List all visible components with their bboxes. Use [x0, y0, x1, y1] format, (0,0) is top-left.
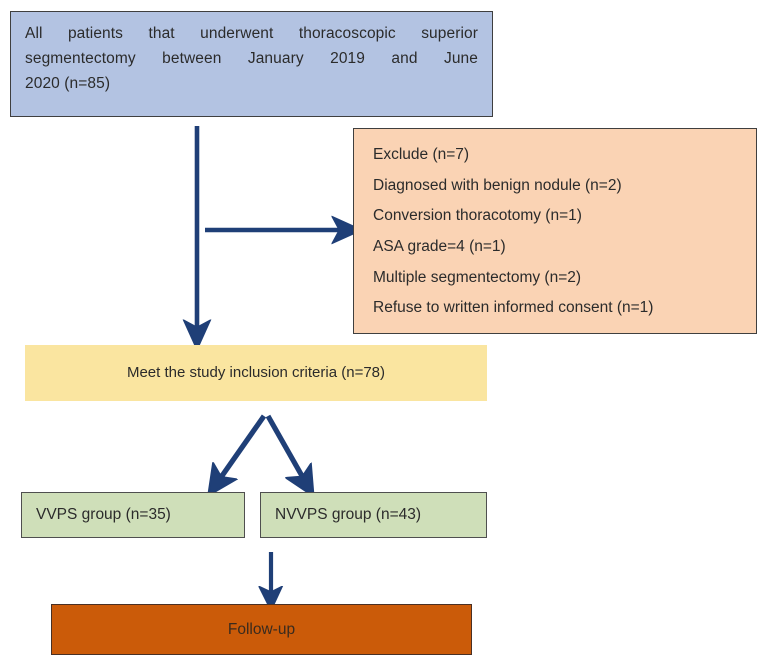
cohort-box: All patients that underwent thoracoscopi…: [10, 11, 493, 117]
exclusion-item-asa-grade: ASA grade=4 (n=1): [373, 232, 756, 263]
exclusion-item-refused-consent: Refuse to written informed consent (n=1): [373, 293, 756, 324]
exclusion-item-multiple-segmentectomy: Multiple segmentectomy (n=2): [373, 263, 756, 294]
group-box-nvvps-label: NVVPS group (n=43): [275, 502, 421, 527]
group-box-vvps-label: VVPS group (n=35): [36, 502, 171, 527]
followup-box: Follow-up: [51, 604, 472, 655]
exclusion-item-benign-nodule: Diagnosed with benign nodule (n=2): [373, 171, 756, 202]
arrow-included-to-nvvps: [268, 416, 306, 483]
included-box: Meet the study inclusion criteria (n=78): [25, 345, 487, 401]
group-box-nvvps: NVVPS group (n=43): [260, 492, 487, 538]
cohort-box-line-2: segmentectomy between January 2019 and J…: [25, 46, 478, 71]
arrow-included-to-vvps: [217, 416, 264, 483]
cohort-box-line-1: All patients that underwent thoracoscopi…: [25, 21, 478, 46]
followup-box-label: Follow-up: [228, 617, 295, 642]
flowchart-canvas: All patients that underwent thoracoscopi…: [0, 0, 762, 665]
exclusion-item-conversion-thoracotomy: Conversion thoracotomy (n=1): [373, 201, 756, 232]
group-box-vvps: VVPS group (n=35): [21, 492, 245, 538]
exclusion-box: Exclude (n=7) Diagnosed with benign nodu…: [353, 128, 757, 334]
exclusion-item-total: Exclude (n=7): [373, 140, 756, 171]
included-box-label: Meet the study inclusion criteria (n=78): [127, 361, 385, 385]
cohort-box-line-3: 2020 (n=85): [25, 71, 478, 96]
